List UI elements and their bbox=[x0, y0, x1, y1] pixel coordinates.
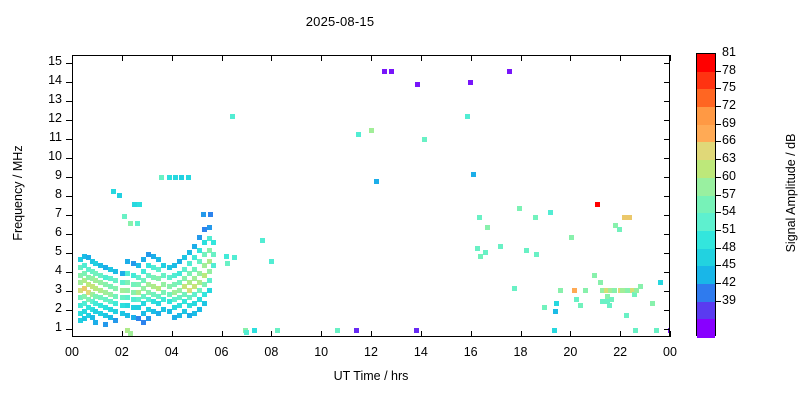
x-tick bbox=[72, 331, 73, 337]
x-tick-top bbox=[271, 55, 272, 61]
y-tick-label: 15 bbox=[34, 55, 62, 67]
data-point bbox=[146, 316, 151, 321]
y-tick-right bbox=[664, 196, 670, 197]
data-point bbox=[113, 318, 118, 323]
data-point bbox=[161, 297, 166, 302]
ionogram-plot-page: 2025-08-15 123456789101112131415 0002040… bbox=[0, 0, 800, 400]
data-point bbox=[269, 259, 274, 264]
x-tick-top bbox=[521, 55, 522, 61]
data-point bbox=[485, 225, 490, 230]
data-point bbox=[173, 175, 178, 180]
data-point bbox=[113, 269, 118, 274]
data-point bbox=[207, 225, 212, 230]
y-tick-right bbox=[664, 272, 670, 273]
data-point bbox=[654, 328, 659, 333]
y-tick bbox=[66, 253, 72, 254]
data-point bbox=[507, 69, 512, 74]
y-tick bbox=[66, 196, 72, 197]
colorbar-band bbox=[697, 196, 715, 214]
colorbar-tick bbox=[716, 71, 721, 72]
data-point bbox=[128, 331, 133, 336]
data-point bbox=[187, 250, 192, 255]
y-tick bbox=[66, 272, 72, 273]
colorbar-band bbox=[697, 319, 715, 337]
x-tick-top bbox=[371, 55, 372, 61]
x-tick bbox=[321, 331, 322, 337]
data-point bbox=[156, 257, 161, 262]
data-point bbox=[389, 69, 394, 74]
y-tick-right bbox=[664, 177, 670, 178]
data-point bbox=[524, 248, 529, 253]
y-tick-label: 10 bbox=[34, 150, 62, 162]
y-tick-right bbox=[664, 139, 670, 140]
data-point bbox=[542, 305, 547, 310]
data-point bbox=[211, 252, 216, 257]
y-tick-label: 13 bbox=[34, 93, 62, 105]
data-point bbox=[137, 202, 142, 207]
colorbar-tick bbox=[716, 106, 721, 107]
data-point bbox=[207, 269, 212, 274]
colorbar-tick-label: 51 bbox=[722, 222, 752, 236]
y-tick-label: 5 bbox=[34, 245, 62, 257]
data-point bbox=[113, 286, 118, 291]
data-point bbox=[207, 288, 212, 293]
data-point bbox=[211, 240, 216, 245]
data-point bbox=[574, 297, 579, 302]
y-tick-label: 9 bbox=[34, 169, 62, 181]
data-point bbox=[382, 69, 387, 74]
y-tick-label: 7 bbox=[34, 207, 62, 219]
x-tick-top bbox=[172, 55, 173, 61]
data-point bbox=[483, 250, 488, 255]
colorbar-tick-label: 48 bbox=[722, 240, 752, 254]
data-point bbox=[595, 202, 600, 207]
data-point bbox=[201, 212, 206, 217]
x-tick-label: 06 bbox=[202, 345, 242, 359]
data-point bbox=[197, 235, 202, 240]
colorbar-band bbox=[697, 72, 715, 90]
x-tick-label: 02 bbox=[102, 345, 142, 359]
x-tick bbox=[620, 331, 621, 337]
x-tick-label: 10 bbox=[301, 345, 341, 359]
x-tick-top bbox=[72, 55, 73, 61]
x-tick-label: 00 bbox=[650, 345, 690, 359]
data-point bbox=[422, 137, 427, 142]
data-point bbox=[414, 328, 419, 333]
colorbar-band bbox=[697, 284, 715, 302]
data-point bbox=[113, 309, 118, 314]
data-point bbox=[475, 246, 480, 251]
data-point bbox=[275, 328, 280, 333]
scatter-canvas bbox=[73, 56, 669, 336]
y-tick-label: 14 bbox=[34, 74, 62, 86]
x-tick bbox=[471, 331, 472, 337]
y-tick bbox=[66, 139, 72, 140]
data-point bbox=[182, 255, 187, 260]
data-point bbox=[113, 301, 118, 306]
data-point bbox=[125, 280, 130, 285]
data-point bbox=[125, 288, 130, 293]
y-tick-label: 1 bbox=[34, 321, 62, 333]
data-point bbox=[197, 307, 202, 312]
data-point bbox=[161, 273, 166, 278]
y-tick-right bbox=[664, 120, 670, 121]
colorbar-band bbox=[697, 160, 715, 178]
x-tick bbox=[122, 331, 123, 337]
y-tick-right bbox=[664, 291, 670, 292]
data-point bbox=[592, 273, 597, 278]
data-point bbox=[125, 313, 130, 318]
colorbar-tick-label: 66 bbox=[722, 133, 752, 147]
y-tick-label: 8 bbox=[34, 188, 62, 200]
x-tick bbox=[521, 331, 522, 337]
colorbar-tick-label: 57 bbox=[722, 187, 752, 201]
x-tick-top bbox=[421, 55, 422, 61]
data-point bbox=[187, 261, 192, 266]
y-tick-label: 12 bbox=[34, 112, 62, 124]
colorbar-tick bbox=[716, 177, 721, 178]
data-point bbox=[369, 128, 374, 133]
x-tick bbox=[172, 331, 173, 337]
x-tick-label: 12 bbox=[351, 345, 391, 359]
x-tick bbox=[271, 331, 272, 337]
data-point bbox=[533, 215, 538, 220]
colorbar-tick bbox=[716, 124, 721, 125]
y-tick-right bbox=[664, 101, 670, 102]
y-tick bbox=[66, 101, 72, 102]
colorbar-band bbox=[697, 125, 715, 143]
x-tick-top bbox=[321, 55, 322, 61]
x-tick bbox=[371, 331, 372, 337]
x-tick-label: 14 bbox=[401, 345, 441, 359]
colorbar-band bbox=[697, 142, 715, 160]
x-tick-top bbox=[620, 55, 621, 61]
data-point bbox=[534, 252, 539, 257]
x-tick bbox=[570, 331, 571, 337]
colorbar-tick bbox=[716, 195, 721, 196]
data-point bbox=[356, 132, 361, 137]
data-point bbox=[415, 82, 420, 87]
data-point bbox=[260, 238, 265, 243]
colorbar-title: Signal Amplitude / dB bbox=[784, 78, 798, 308]
colorbar-tick bbox=[716, 141, 721, 142]
y-tick-label: 2 bbox=[34, 302, 62, 314]
data-point bbox=[552, 328, 557, 333]
data-point bbox=[572, 288, 577, 293]
data-point bbox=[578, 303, 583, 308]
data-point bbox=[113, 294, 118, 299]
data-point bbox=[161, 282, 166, 287]
y-tick bbox=[66, 310, 72, 311]
y-tick bbox=[66, 63, 72, 64]
colorbar-band bbox=[697, 107, 715, 125]
colorbar-band bbox=[697, 266, 715, 284]
data-point bbox=[161, 290, 166, 295]
data-point bbox=[617, 227, 622, 232]
data-point bbox=[90, 315, 95, 320]
data-point bbox=[179, 175, 184, 180]
data-point bbox=[136, 263, 141, 268]
x-tick-top bbox=[471, 55, 472, 61]
data-point bbox=[478, 254, 483, 259]
x-tick-label: 08 bbox=[251, 345, 291, 359]
data-point bbox=[159, 175, 164, 180]
y-axis-title: Frequency / MHz bbox=[11, 93, 25, 293]
data-point bbox=[167, 175, 172, 180]
colorbar-tick bbox=[716, 283, 721, 284]
data-point bbox=[512, 286, 517, 291]
data-point bbox=[225, 261, 230, 266]
x-tick-label: 18 bbox=[501, 345, 541, 359]
data-point bbox=[186, 175, 191, 180]
x-tick-top bbox=[570, 55, 571, 61]
colorbar-tick bbox=[716, 88, 721, 89]
colorbar-tick-label: 42 bbox=[722, 275, 752, 289]
data-point bbox=[607, 303, 612, 308]
colorbar-tick bbox=[716, 301, 721, 302]
data-point bbox=[125, 295, 130, 300]
colorbar-band bbox=[697, 178, 715, 196]
data-point bbox=[141, 257, 146, 262]
colorbar-band bbox=[697, 54, 715, 72]
x-tick-top bbox=[122, 55, 123, 61]
data-point bbox=[624, 313, 629, 318]
colorbar-tick-label: 54 bbox=[722, 204, 752, 218]
y-tick-right bbox=[664, 310, 670, 311]
x-tick-top bbox=[222, 55, 223, 61]
x-tick-label: 00 bbox=[52, 345, 92, 359]
colorbar-tick-label: 45 bbox=[722, 257, 752, 271]
colorbar-tick-label: 78 bbox=[722, 63, 752, 77]
data-point bbox=[230, 114, 235, 119]
data-point bbox=[93, 320, 98, 325]
data-point bbox=[122, 214, 127, 219]
colorbar-band bbox=[697, 89, 715, 107]
colorbar-tick-label: 69 bbox=[722, 116, 752, 130]
x-tick-label: 16 bbox=[451, 345, 491, 359]
y-tick bbox=[66, 177, 72, 178]
colorbar[interactable] bbox=[696, 53, 716, 336]
data-point bbox=[125, 303, 130, 308]
y-tick bbox=[66, 120, 72, 121]
data-point bbox=[553, 309, 558, 314]
x-axis-title: UT Time / hrs bbox=[72, 369, 670, 383]
y-tick bbox=[66, 291, 72, 292]
data-point bbox=[498, 244, 503, 249]
data-point bbox=[548, 210, 553, 215]
x-tick-label: 04 bbox=[152, 345, 192, 359]
x-tick-label: 20 bbox=[550, 345, 590, 359]
y-tick-right bbox=[664, 158, 670, 159]
x-tick bbox=[670, 331, 671, 337]
plot-area[interactable] bbox=[72, 55, 670, 337]
data-point bbox=[161, 263, 166, 268]
colorbar-tick bbox=[716, 265, 721, 266]
colorbar-tick-label: 72 bbox=[722, 98, 752, 112]
data-point bbox=[650, 301, 655, 306]
x-tick bbox=[222, 331, 223, 337]
page-title: 2025-08-15 bbox=[0, 14, 680, 29]
colorbar-tick bbox=[716, 212, 721, 213]
data-point bbox=[211, 263, 216, 268]
data-point bbox=[477, 215, 482, 220]
data-point bbox=[471, 172, 476, 177]
colorbar-band bbox=[697, 249, 715, 267]
colorbar-tick-label: 39 bbox=[722, 293, 752, 307]
data-point bbox=[638, 284, 643, 289]
data-point bbox=[103, 322, 108, 327]
y-tick bbox=[66, 158, 72, 159]
y-tick bbox=[66, 234, 72, 235]
data-point bbox=[111, 189, 116, 194]
y-tick-right bbox=[664, 63, 670, 64]
data-point bbox=[125, 259, 130, 264]
data-point bbox=[113, 278, 118, 283]
data-point bbox=[208, 212, 213, 217]
data-point bbox=[117, 193, 122, 198]
data-point bbox=[627, 215, 632, 220]
data-point bbox=[232, 255, 237, 260]
data-point bbox=[252, 328, 257, 333]
x-tick bbox=[421, 331, 422, 337]
colorbar-tick-label: 63 bbox=[722, 151, 752, 165]
colorbar-band bbox=[697, 302, 715, 320]
data-point bbox=[207, 278, 212, 283]
data-point bbox=[244, 330, 249, 335]
data-point bbox=[128, 221, 133, 226]
data-point bbox=[135, 221, 140, 226]
y-tick-label: 3 bbox=[34, 283, 62, 295]
y-tick-right bbox=[664, 82, 670, 83]
data-point bbox=[468, 80, 473, 85]
data-point bbox=[554, 301, 559, 306]
data-point bbox=[465, 114, 470, 119]
colorbar-band bbox=[697, 213, 715, 231]
colorbar-tick-label: 60 bbox=[722, 169, 752, 183]
data-point bbox=[354, 328, 359, 333]
data-point bbox=[125, 271, 130, 276]
data-point bbox=[569, 235, 574, 240]
x-tick-label: 22 bbox=[600, 345, 640, 359]
data-point bbox=[558, 288, 563, 293]
colorbar-tick-label: 81 bbox=[722, 45, 752, 59]
data-point bbox=[612, 288, 617, 293]
x-tick-top bbox=[670, 55, 671, 61]
data-point bbox=[658, 280, 663, 285]
colorbar-band bbox=[697, 231, 715, 249]
y-tick bbox=[66, 215, 72, 216]
data-point bbox=[633, 328, 638, 333]
data-point bbox=[517, 206, 522, 211]
colorbar-tick bbox=[716, 248, 721, 249]
y-tick-label: 6 bbox=[34, 226, 62, 238]
data-point bbox=[202, 301, 207, 306]
y-tick-right bbox=[664, 234, 670, 235]
colorbar-tick bbox=[716, 159, 721, 160]
y-tick-label: 4 bbox=[34, 264, 62, 276]
data-point bbox=[374, 179, 379, 184]
colorbar-tick bbox=[716, 230, 721, 231]
data-point bbox=[224, 254, 229, 259]
y-tick bbox=[66, 82, 72, 83]
y-tick-right bbox=[664, 215, 670, 216]
data-point bbox=[583, 288, 588, 293]
colorbar-tick-label: 75 bbox=[722, 80, 752, 94]
data-point bbox=[335, 328, 340, 333]
y-tick-label: 11 bbox=[34, 131, 62, 143]
data-point bbox=[598, 280, 603, 285]
data-point bbox=[161, 307, 166, 312]
y-tick-right bbox=[664, 253, 670, 254]
